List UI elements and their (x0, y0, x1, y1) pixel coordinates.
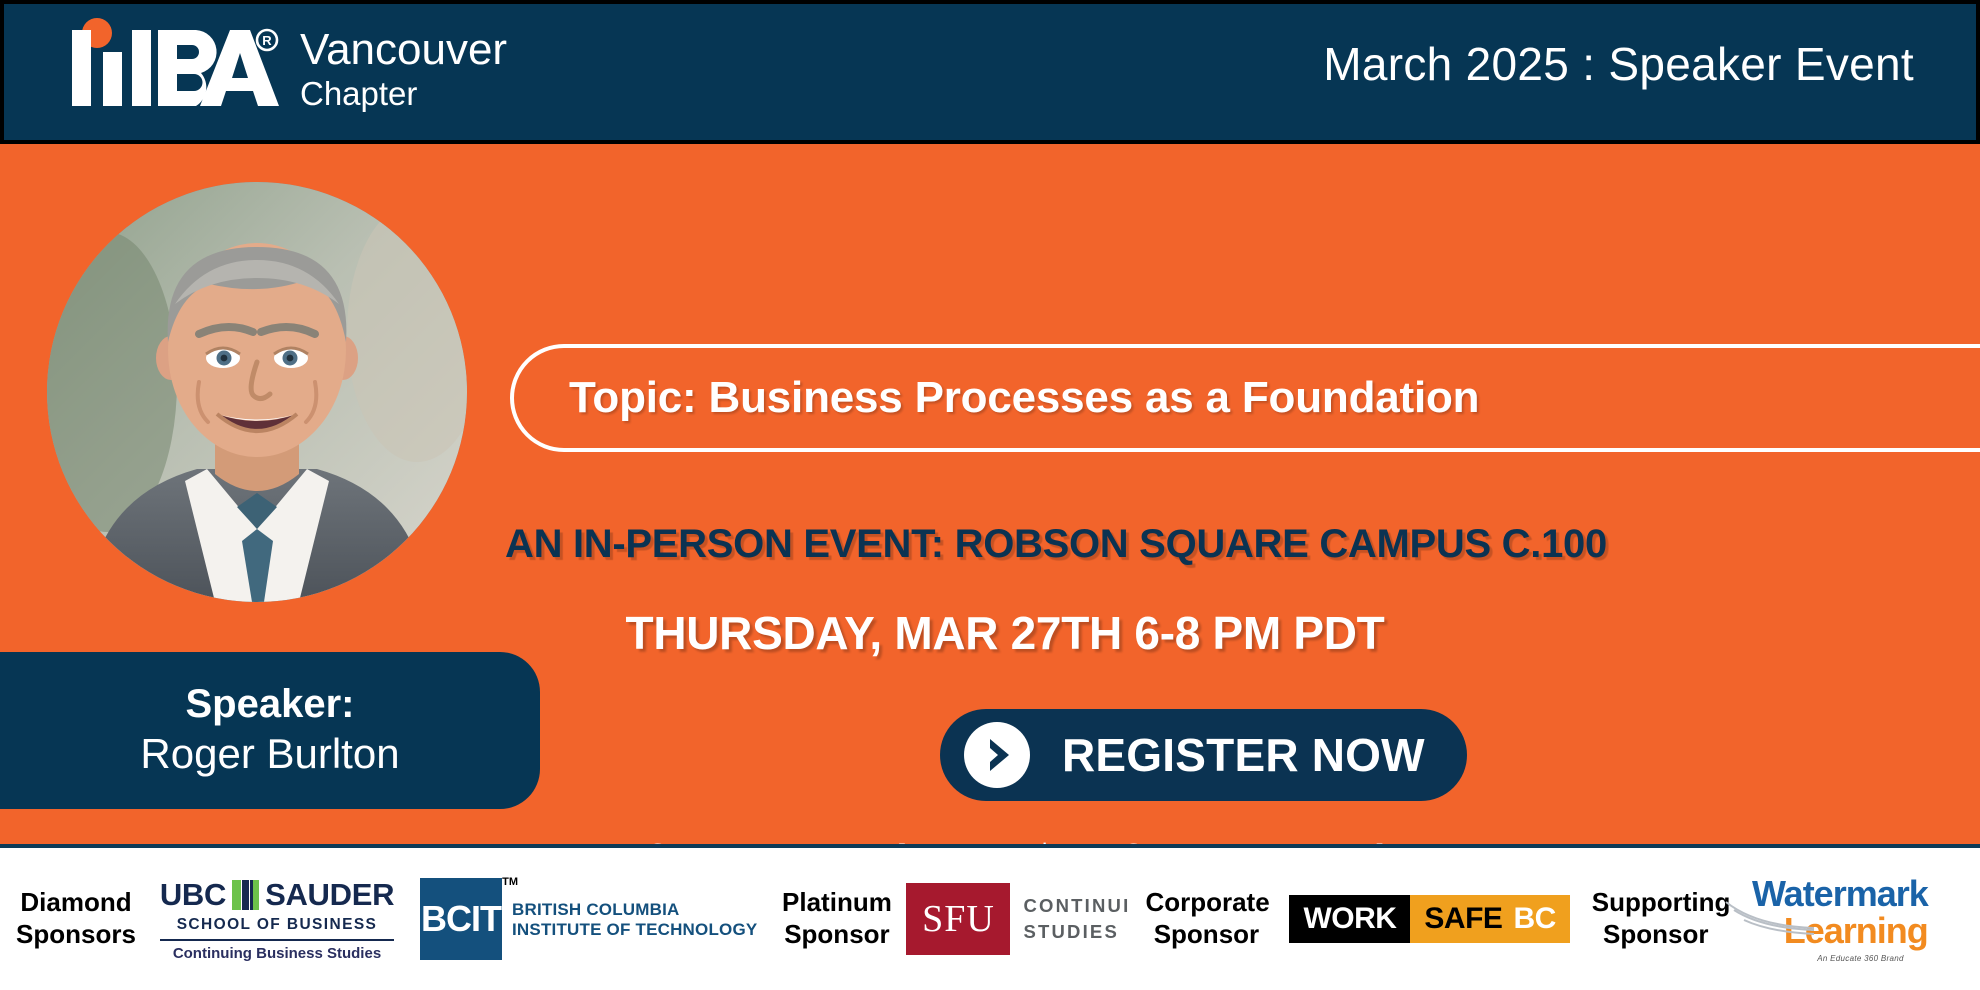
event-banner: R Vancouver Chapter March 2025 : Speaker… (0, 0, 1980, 990)
sfu-acronym: SFU (922, 897, 995, 941)
chapter-name: Vancouver Chapter (300, 28, 507, 110)
sponsor-bar: Diamond Sponsors UBC SAUDER (0, 844, 1980, 990)
bcit-acronym-box: BCIT TM (420, 878, 502, 960)
ubc-divider (160, 939, 394, 941)
topic-title: Topic: Business Processes as a Foundatio… (569, 373, 1479, 423)
speaker-role-label: Speaker: (186, 682, 355, 727)
tier-line-1: Supporting (1592, 887, 1720, 919)
event-label: March 2025 : Speaker Event (1323, 37, 1914, 91)
tier-line-1: Corporate (1145, 887, 1267, 919)
sfu-acronym-box: SFU (906, 883, 1010, 955)
worksafe-safe-text: SAFE (1424, 902, 1502, 936)
event-datetime: THURSDAY, MAR 27TH 6-8 PM PDT (505, 606, 1505, 660)
tier-line-1: Platinum (779, 887, 894, 919)
tier-line-2: Sponsor (1145, 919, 1267, 951)
register-now-button[interactable]: REGISTER NOW (940, 709, 1467, 801)
chapter-line-1: Vancouver (300, 28, 507, 72)
worksafe-safe-block: SAFE BC (1410, 895, 1569, 943)
iiba-logo-icon: R (70, 18, 280, 114)
watermark-tagline: An Educate 360 Brand (1728, 954, 1904, 963)
chapter-line-2: Chapter (300, 77, 507, 110)
banner-body: Speaker: Roger Burlton Topic: Business P… (0, 144, 1980, 844)
ubc-word: UBC (160, 877, 226, 913)
iiba-vancouver-logo: R Vancouver Chapter (70, 18, 507, 114)
sponsor-tier-supporting: Supporting Sponsor (1592, 887, 1720, 950)
register-now-label: REGISTER NOW (1062, 728, 1425, 782)
sponsor-logo-sfu: SFU CONTINUING STUDIES (906, 883, 1131, 955)
tier-line-2: Sponsor (779, 919, 894, 951)
bcit-name-line-2: INSTITUTE OF TECHNOLOGY (512, 920, 757, 940)
sponsor-tier-corporate: Corporate Sponsor (1145, 887, 1267, 950)
ubc-subtitle: SCHOOL OF BUSINESS (158, 916, 396, 934)
watermark-ripple-icon (1722, 894, 1818, 943)
banner-header: R Vancouver Chapter March 2025 : Speaker… (0, 0, 1980, 144)
speaker-name: Roger Burlton (140, 729, 399, 779)
tier-line-2: Sponsor (1592, 919, 1720, 951)
worksafe-bc-text: BC (1513, 902, 1555, 936)
ubc-tagline: Continuing Business Studies (158, 945, 396, 962)
sfu-line-1: CONTINUING (1023, 893, 1131, 919)
bcit-acronym: BCIT (421, 898, 501, 940)
chevron-right-circle-icon (964, 722, 1030, 788)
ubc-door-icon (232, 880, 259, 910)
sponsor-logo-ubc-sauder: UBC SAUDER SCHOOL OF BUSINESS Continuing… (158, 877, 396, 962)
sponsor-tier-diamond: Diamond Sponsors (16, 887, 136, 950)
sponsor-tier-platinum: Platinum Sponsor (779, 887, 894, 950)
svg-text:R: R (262, 33, 272, 48)
bcit-fullname: BRITISH COLUMBIA INSTITUTE OF TECHNOLOGY (512, 900, 757, 940)
speaker-name-plate: Speaker: Roger Burlton (0, 652, 540, 809)
worksafe-work-text: WORK (1303, 902, 1396, 936)
bcit-trademark: TM (502, 876, 518, 888)
speaker-photo (47, 182, 467, 602)
sponsor-logo-bcit: BCIT TM BRITISH COLUMBIA INSTITUTE OF TE… (420, 878, 757, 960)
bcit-name-line-1: BRITISH COLUMBIA (512, 900, 757, 920)
topic-box: Topic: Business Processes as a Foundatio… (510, 344, 1980, 452)
sponsor-logo-worksafebc: WORK SAFE BC (1289, 895, 1569, 943)
sfu-line-2: STUDIES (1023, 919, 1131, 945)
sauder-word: SAUDER (265, 877, 394, 913)
sponsor-logo-watermark-learning: Watermark Learning An Educate 360 Brand (1728, 876, 1928, 963)
tier-line-1: Diamond (16, 887, 136, 919)
event-location: AN IN-PERSON EVENT: ROBSON SQUARE CAMPUS… (505, 522, 1505, 567)
worksafe-work-block: WORK (1289, 895, 1410, 943)
tier-line-2: Sponsors (16, 919, 136, 951)
sfu-continuing-studies: CONTINUING STUDIES (1023, 893, 1131, 944)
